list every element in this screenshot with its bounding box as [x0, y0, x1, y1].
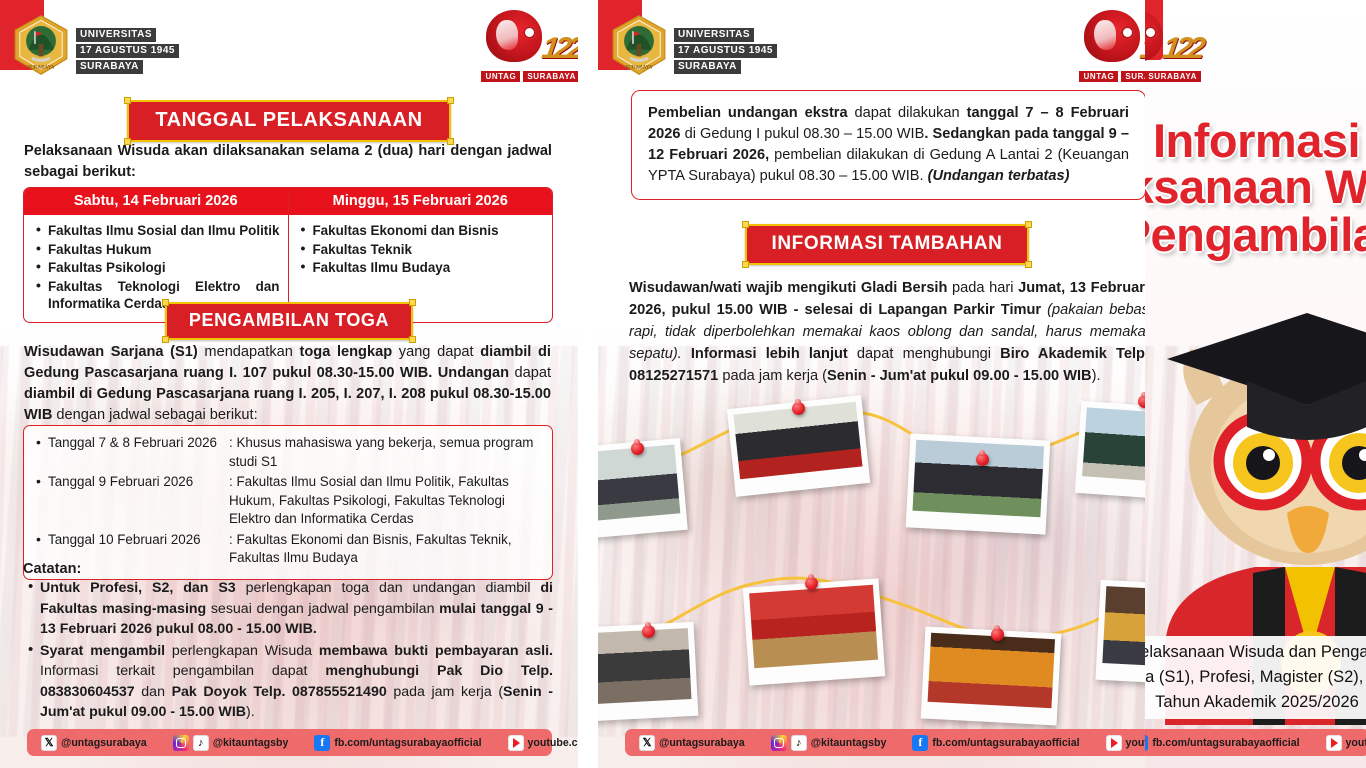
photo-thumbnail [928, 633, 1055, 708]
toga-paragraph: Wisudawan Sarjana (S1) mendapatkan toga … [24, 342, 551, 426]
social-handle: @untagsurabaya [659, 737, 745, 749]
table-row: Tanggal 9 Februari 2026 : Fakultas Ilmu … [34, 473, 542, 529]
photo-thumbnail [749, 585, 878, 668]
tiktok-icon: ♪ [791, 735, 807, 751]
instagram-icon [771, 735, 787, 751]
instagram-icon [173, 735, 189, 751]
untag-wordmark: UNIVERSITAS 17 AGUSTUS 1945 SURABAYA [76, 28, 179, 74]
catatan-item: Syarat mengambil perlengkapan Wisuda mem… [23, 641, 553, 723]
collage-photo [906, 433, 1051, 534]
ribbon-informasi-tambahan-wrap: INFORMASI TAMBAHAN [598, 224, 1176, 265]
handle-top-left[interactable] [124, 97, 131, 104]
untag-wordmark: UNIVERSITAS 17 AGUSTUS 1945 SURABAYA [674, 28, 777, 74]
slide-panel-1[interactable]: SURABAYA UNIVERSITAS 17 AGUSTUS 1945 SUR… [0, 0, 578, 768]
anniversary-tag-right: SURABAYA [1145, 71, 1201, 82]
anniversary-blob-icon [1084, 10, 1140, 62]
column-body-sunday: Fakultas Ekonomi dan Bisnis Fakultas Tek… [289, 215, 553, 286]
social-facebook[interactable]: f fb.com/untagsurabayaofficial [912, 735, 1079, 751]
ribbon-label: INFORMASI TAMBAHAN [771, 233, 1002, 254]
catatan-item: Untuk Profesi, S2, dan S3 perlengkapan t… [23, 578, 553, 640]
photo-collage [598, 385, 1176, 715]
schedule-date: Tanggal 7 & 8 Februari 2026 [34, 434, 229, 471]
handle-top-right[interactable] [1025, 221, 1032, 228]
social-instagram-tiktok[interactable]: ♪ @kitauntagsby [173, 735, 289, 751]
slide3-subtitle-band: Informasi Pelaksanaan Wisuda dan Pengamb… [1145, 636, 1366, 719]
collage-pin [631, 442, 644, 455]
informasi-tambahan-text: Wisudawan/wati wajib mengikuti Gladi Ber… [629, 277, 1149, 387]
collage-pin [805, 577, 818, 590]
faculty-list-saturday: Fakultas Ilmu Sosial dan Ilmu Politik Fa… [34, 222, 280, 313]
column-header-saturday: Sabtu, 14 Februari 2026 [24, 188, 288, 215]
collage-photo [598, 438, 688, 540]
faculty-list-sunday: Fakultas Ekonomi dan Bisnis Fakultas Tek… [299, 222, 545, 277]
wordmark-line-2: 17 AGUSTUS 1945 [674, 44, 777, 58]
untag-seal-icon: SURABAYA [12, 14, 70, 76]
social-handle: @untagsurabaya [61, 737, 147, 749]
wordmark-line-3: SURABAYA [76, 60, 143, 74]
social-handle: youtube.com/untagsurabaya [528, 737, 578, 749]
handle-top-right[interactable] [447, 97, 454, 104]
youtube-icon [508, 735, 524, 751]
social-x[interactable]: 𝕏 @untagsurabaya [639, 735, 745, 751]
wordmark-line-2: 17 AGUSTUS 1945 [76, 44, 179, 58]
social-footer-bar: 𝕏 @untagsurabaya ♪ @kitauntagsby f fb.co… [27, 729, 552, 756]
social-handle: fb.com/untagsurabayaofficial [1152, 737, 1299, 749]
ribbon-tanggal-pelaksanaan-wrap: TANGGAL PELAKSANAAN [0, 100, 578, 142]
social-instagram-tiktok[interactable]: ♪ @kitauntagsby [771, 735, 887, 751]
list-item: Fakultas Teknik [299, 241, 545, 259]
catatan-section: Catatan: Untuk Profesi, S2, dan S3 perle… [23, 561, 553, 724]
collage-photo [743, 578, 886, 685]
ribbon-pengambilan-toga-wrap: PENGAMBILAN TOGA [0, 302, 578, 340]
untag-seal-icon: SURABAYA [610, 14, 668, 76]
x-icon: 𝕏 [639, 735, 655, 751]
anniversary-tag-right: SURABAYA [523, 71, 578, 82]
anniversary-tag: UNTAG SURABAYA [481, 71, 578, 82]
social-youtube[interactable]: youtube.com/untagsurabaya [508, 735, 578, 751]
anniversary-tag: UNTAG SURABAYA [1145, 71, 1201, 82]
schedule-value: : Khusus mahasiswa yang bekerja, semua p… [229, 434, 542, 471]
list-item: Fakultas Psikologi [34, 259, 280, 277]
social-handle: fb.com/untagsurabayaofficial [334, 737, 481, 749]
social-footer-bar: 𝕏 @untagsurabaya ♪ @kitauntagsby f fb.co… [625, 729, 1150, 756]
anniversary-tag-left: UNTAG [481, 71, 520, 82]
list-item: Fakultas Hukum [34, 241, 280, 259]
subtitle-line-3: Tahun Akademik 2025/2026 [1145, 690, 1366, 715]
social-x[interactable]: 𝕏 @untagsurabaya [41, 735, 147, 751]
collage-photo [921, 627, 1062, 726]
anniversary-blob-icon [1145, 10, 1163, 62]
ribbon-label: PENGAMBILAN TOGA [189, 310, 389, 330]
wordmark-line-1: UNIVERSITAS [76, 28, 156, 42]
list-item: Fakultas Ilmu Budaya [299, 259, 545, 277]
ribbon-informasi-tambahan[interactable]: INFORMASI TAMBAHAN [745, 224, 1028, 265]
social-facebook[interactable]: f fb.com/untagsurabayaofficial [314, 735, 481, 751]
schedule-value: : Fakultas Ilmu Sosial dan Ilmu Politik,… [229, 473, 542, 529]
subtitle-line-2: Program Sarjana (S1), Profesi, Magister … [1145, 665, 1366, 690]
handle-bottom-right[interactable] [1025, 261, 1032, 268]
photo-thumbnail [598, 445, 680, 523]
column-header-sunday: Minggu, 15 Februari 2026 [289, 188, 553, 215]
tiktok-icon: ♪ [193, 735, 209, 751]
slide-panel-2[interactable]: SURABAYA UNIVERSITAS 17 AGUSTUS 1945 SUR… [598, 0, 1176, 768]
subtitle-line-1: Informasi Pelaksanaan Wisuda dan Pengamb… [1145, 640, 1366, 665]
wordmark-line-1: UNIVERSITAS [674, 28, 754, 42]
list-item: Fakultas Ekonomi dan Bisnis [299, 222, 545, 240]
collage-pin [642, 625, 655, 638]
ribbon-label: TANGGAL PELAKSANAAN [155, 109, 422, 131]
handle-bottom-left[interactable] [742, 261, 749, 268]
anniversary-blob-icon [486, 10, 542, 62]
ribbon-pengambilan-toga[interactable]: PENGAMBILAN TOGA [165, 302, 413, 340]
facebook-icon: f [912, 735, 928, 751]
handle-top-left[interactable] [742, 221, 749, 228]
schedule-date: Tanggal 9 Februari 2026 [34, 473, 229, 529]
anniversary-number: 122 [1161, 32, 1204, 66]
facebook-icon: f [314, 735, 330, 751]
ribbon-tanggal-pelaksanaan[interactable]: TANGGAL PELAKSANAAN [127, 100, 450, 142]
slide1-intro-text: Pelaksanaan Wisuda akan dilaksanakan sel… [24, 141, 552, 183]
handle-top-right[interactable] [409, 299, 416, 306]
social-handle: fb.com/untagsurabayaofficial [932, 737, 1079, 749]
toga-pickup-schedule-box: Tanggal 7 & 8 Februari 2026 : Khusus mah… [23, 425, 553, 580]
facebook-icon: f [1145, 735, 1148, 751]
wordmark-line-3: SURABAYA [674, 60, 741, 74]
slide1-header: SURABAYA UNIVERSITAS 17 AGUSTUS 1945 SUR… [0, 0, 578, 92]
carousel-preview-canvas: SURABAYA UNIVERSITAS 17 AGUSTUS 1945 SUR… [0, 0, 1366, 768]
anniversary-122-logo: 122 UNTAG SURABAYA [484, 8, 578, 84]
anniversary-number: 122 [540, 32, 578, 66]
catatan-title: Catatan: [23, 561, 553, 577]
photo-thumbnail [598, 628, 691, 705]
collage-pin [991, 628, 1004, 641]
collage-pin [792, 402, 805, 415]
notice-text: Pembelian undangan ekstra dapat dilakuka… [648, 103, 1129, 187]
social-handle: youtube.com/untagsurabaya [1346, 737, 1366, 749]
social-handle: @kitauntagsby [811, 737, 887, 749]
x-icon: 𝕏 [41, 735, 57, 751]
slide-panel-3[interactable]: 122 UNTAG SURABAYA Informasi Pelaksanaan… [1145, 0, 1366, 768]
svg-text:SURABAYA: SURABAYA [625, 65, 653, 71]
slide2-header: SURABAYA UNIVERSITAS 17 AGUSTUS 1945 SUR… [598, 0, 1176, 92]
handle-top-left[interactable] [162, 299, 169, 306]
anniversary-122-logo: 122 UNTAG SURABAYA [1145, 8, 1201, 84]
social-facebook[interactable]: f fb.com/untagsurabayaofficial [1145, 735, 1300, 751]
social-youtube[interactable]: youtube.com/untagsurabaya [1326, 735, 1366, 751]
notice-undangan-ekstra-box: Pembelian undangan ekstra dapat dilakuka… [631, 90, 1146, 200]
collage-pin [976, 453, 989, 466]
table-row: Tanggal 7 & 8 Februari 2026 : Khusus mah… [34, 434, 542, 471]
svg-text:SURABAYA: SURABAYA [27, 65, 55, 71]
youtube-icon [1326, 735, 1342, 751]
social-footer-bar: 𝕏 @untagsurabaya ♪ @kitauntagsby f fb.co… [1145, 729, 1366, 756]
youtube-icon [1106, 735, 1122, 751]
anniversary-tag-left: UNTAG [1079, 71, 1118, 82]
list-item: Fakultas Ilmu Sosial dan Ilmu Politik [34, 222, 280, 240]
social-handle: @kitauntagsby [213, 737, 289, 749]
